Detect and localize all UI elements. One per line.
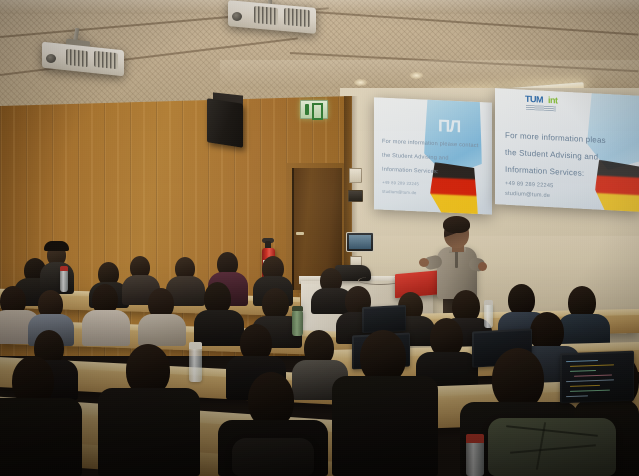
podium-monitor[interactable]	[346, 232, 374, 252]
audience-body	[40, 262, 74, 294]
audience-body	[0, 398, 82, 476]
screen-right-phone: +49 89 289 22245	[505, 181, 553, 190]
screen-left-line-3: Information Services:	[382, 167, 439, 176]
screen-right-email: studium@tum.de	[505, 191, 550, 199]
wall-speaker	[207, 98, 243, 148]
speaker-left-hand	[419, 258, 429, 267]
projector-vent	[284, 8, 310, 27]
wall-panel-box[interactable]	[349, 168, 362, 183]
projector-lens	[232, 12, 242, 21]
projector-lens	[46, 54, 56, 63]
audience-cap	[44, 241, 69, 251]
screen-left-phone: +49 89 289 22245	[382, 180, 419, 187]
bottle-cap	[484, 300, 493, 305]
thermos-cap	[292, 306, 303, 311]
water-bottle	[466, 440, 484, 476]
laptop-code[interactable]	[560, 351, 634, 404]
audience-body	[194, 310, 244, 346]
bottle-cap	[60, 266, 68, 271]
bottle-cap	[466, 434, 484, 443]
speaker-right-hand	[478, 262, 487, 271]
speaker-glasses	[447, 228, 466, 233]
projector-vent	[254, 6, 278, 25]
audience-body	[98, 388, 200, 476]
screen-right-line-3: Information Services:	[505, 165, 584, 178]
backpack	[232, 438, 314, 476]
bottle-cap	[189, 342, 202, 349]
audience-head	[492, 348, 544, 410]
projector-vent	[94, 51, 118, 70]
projection-screen-left: ПЛ For more information please contact t…	[374, 97, 492, 214]
audience-body	[82, 310, 130, 346]
door-handle[interactable]	[296, 232, 304, 235]
lecture-hall-photo: ПЛ For more information please contact t…	[0, 0, 639, 476]
projection-screen-right: TUM int For more information pleas the S…	[495, 88, 639, 212]
downlight	[354, 79, 367, 86]
backpack	[488, 418, 616, 476]
green-thermos	[292, 310, 303, 336]
audience-body	[332, 376, 438, 476]
projector-left	[42, 28, 128, 74]
logo-subtitle	[526, 105, 556, 112]
screen-left-email: studium@tum.de	[382, 189, 417, 196]
audience-body	[138, 314, 186, 346]
water-bottle	[189, 348, 202, 382]
audience-body	[558, 314, 610, 346]
tum-logo: TUM	[525, 94, 543, 105]
water-bottle	[60, 270, 68, 292]
laptop-screen	[562, 352, 633, 401]
projector-vent	[66, 49, 88, 67]
screen-right-line-2: the Student Advising and	[505, 148, 598, 162]
speaker-zipper	[455, 250, 458, 268]
water-bottle	[484, 304, 493, 328]
exit-sign-icon	[300, 100, 328, 119]
wall-sensor	[348, 190, 363, 202]
projector-right	[228, 0, 320, 42]
int-logo: int	[548, 95, 558, 105]
laptop[interactable]	[362, 305, 406, 333]
downlight	[410, 72, 423, 79]
